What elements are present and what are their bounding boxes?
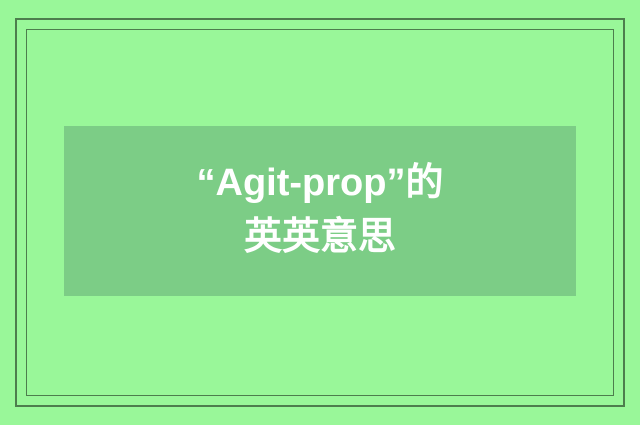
- page-title: “Agit-prop”的英英意思: [190, 157, 450, 265]
- page-canvas: “Agit-prop”的英英意思: [0, 0, 640, 425]
- title-card: “Agit-prop”的英英意思: [64, 126, 576, 296]
